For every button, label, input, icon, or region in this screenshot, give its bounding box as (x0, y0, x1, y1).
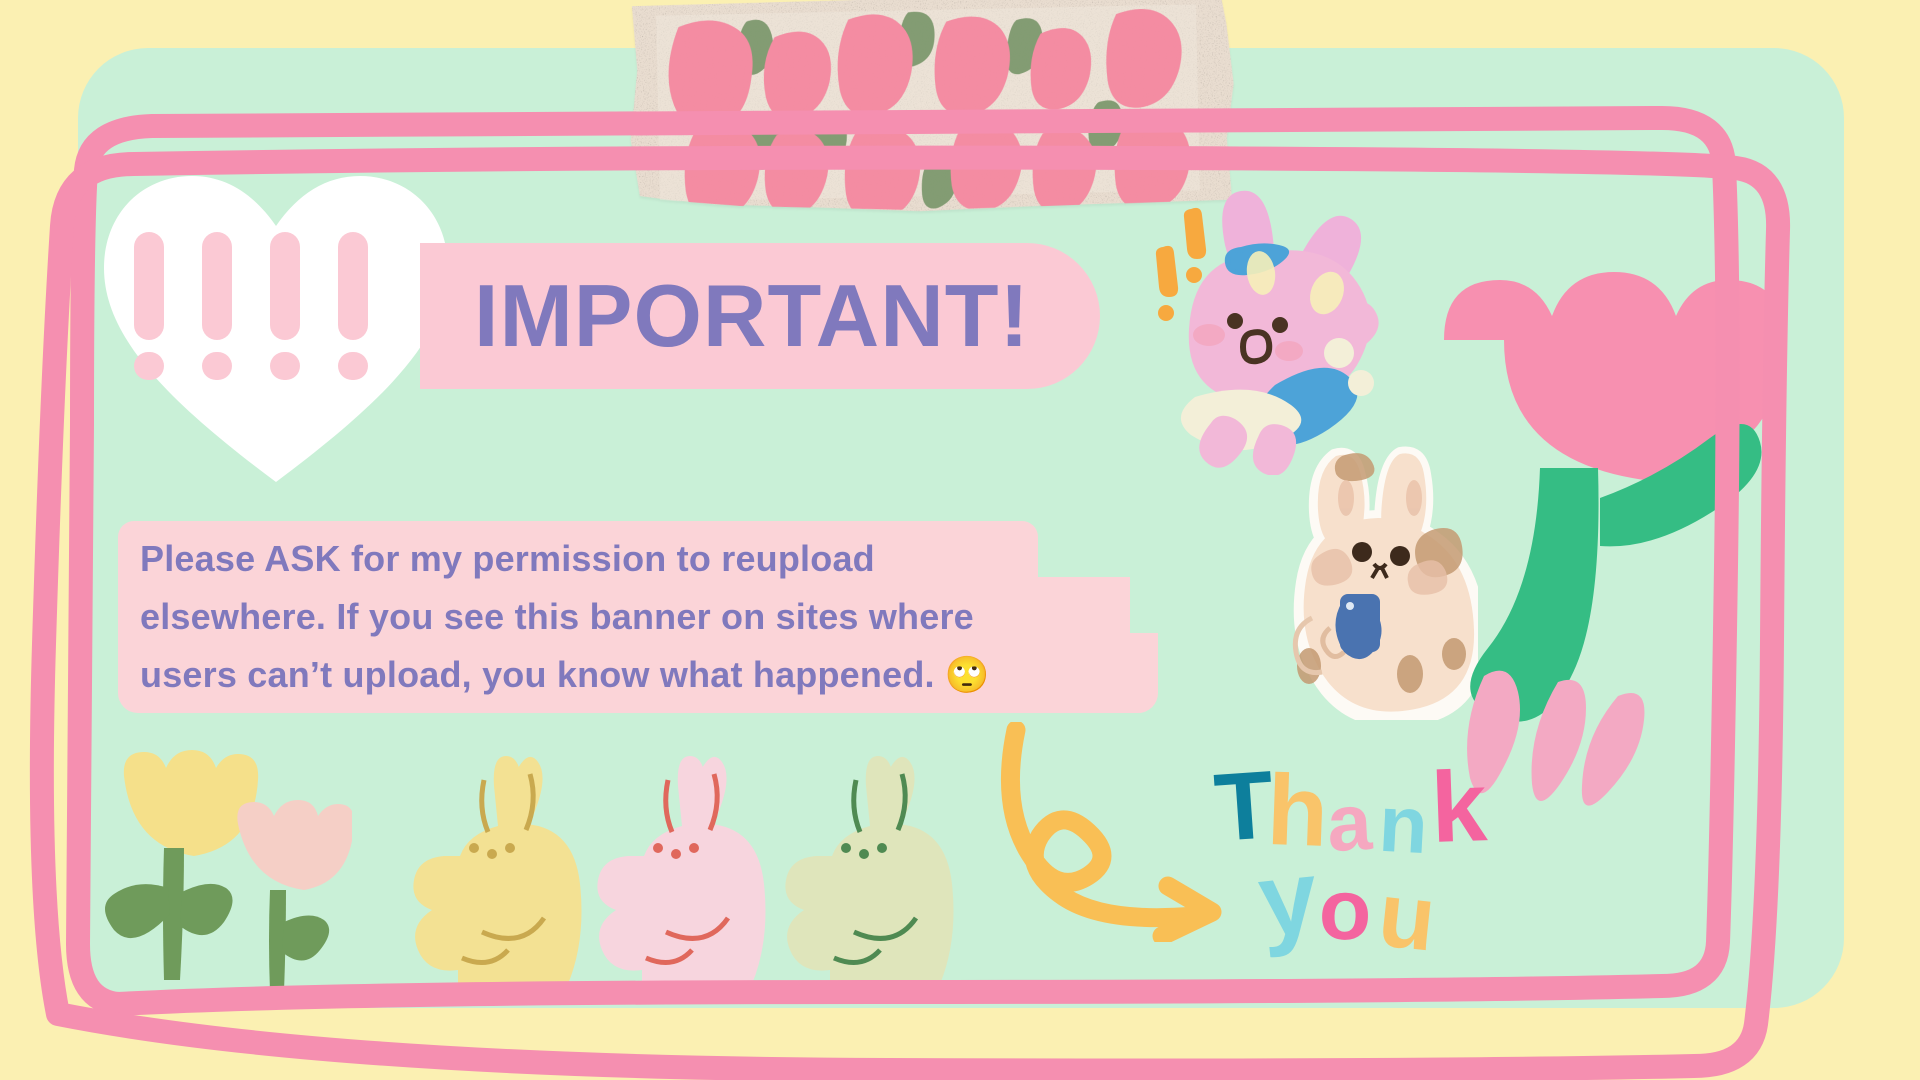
banner-canvas: IMPORTANT! Please ASK for my permission … (0, 0, 1920, 1080)
big-pink-tulip (1432, 252, 1832, 812)
green-bunny-cookie (785, 756, 953, 984)
ty-letter-o: o (1318, 866, 1374, 954)
white-heart-with-exclamations (96, 160, 456, 490)
ty-letter-u: u (1374, 868, 1440, 965)
body-line-1: Please ASK for my permission to reupload (140, 530, 1170, 588)
body-line-3: users can’t upload, you know what happen… (140, 646, 1170, 704)
ty-letter-y: y (1254, 844, 1322, 953)
small-tulips-group (92, 742, 352, 992)
yellow-tulip (105, 750, 258, 980)
ty-letter-k: k (1429, 756, 1488, 858)
bunny-cookie-row (404, 744, 974, 984)
page-title: IMPORTANT! (474, 263, 1030, 369)
pink-bunny-cookie (597, 756, 765, 984)
ty-letter-n: n (1377, 784, 1430, 866)
flying-bunny-sticker (1155, 185, 1435, 475)
washi-tape-tulips (616, 0, 1240, 218)
thank-you-lettering: T h a n k y o u (1215, 755, 1515, 970)
yellow-bunny-cookie (413, 756, 581, 984)
ty-letter-a: a (1325, 782, 1374, 864)
pink-tulip (237, 800, 352, 992)
body-line-2: elsewhere. If you see this banner on sit… (140, 588, 1170, 646)
body-text: Please ASK for my permission to reupload… (140, 530, 1170, 704)
